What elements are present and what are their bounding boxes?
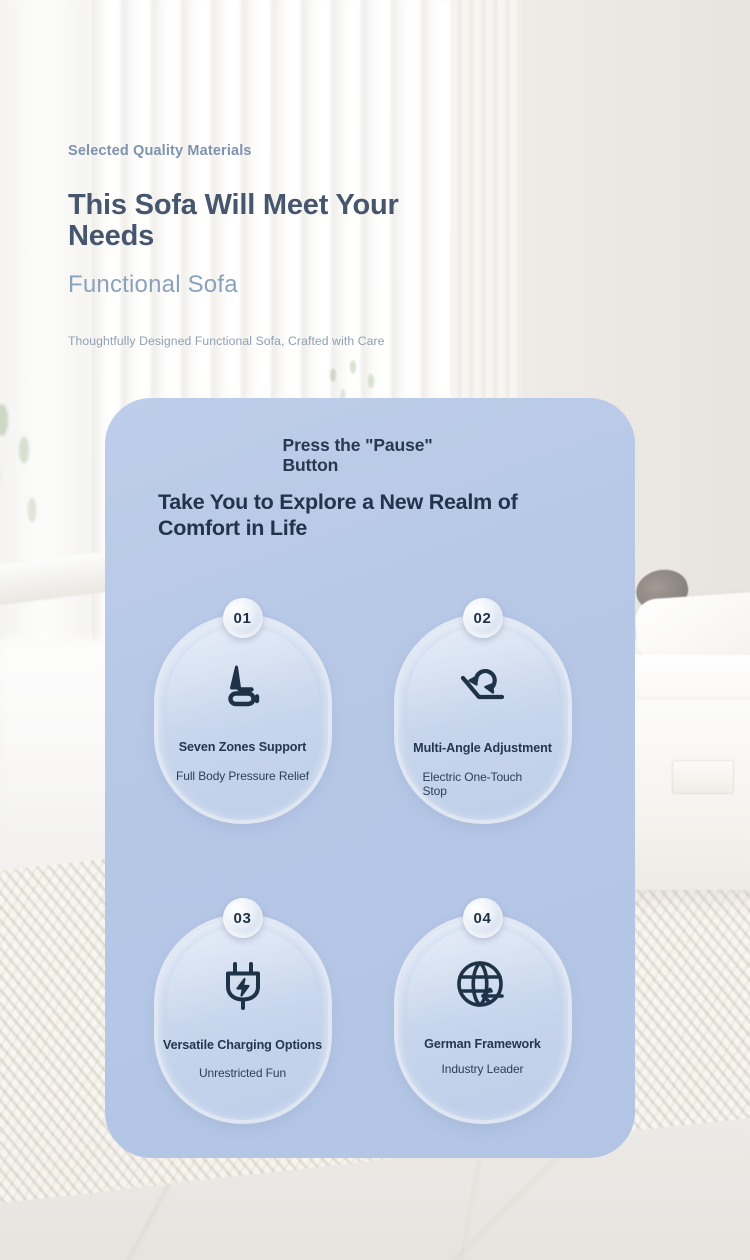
panel-kicker-wrap: Press the "Pause" Button [105,436,635,475]
card-number-badge: 04 [463,898,503,938]
card-description: Unrestricted Fun [199,1066,286,1080]
feature-card[interactable]: 03 Versatile Charging Options [150,898,335,1120]
hero-title: This Sofa Will Meet Your Needs [68,190,418,251]
card-number: 04 [474,911,492,926]
hero-description: Thoughtfully Designed Functional Sofa, C… [68,334,538,349]
product-feature-page: Selected Quality Materials This Sofa Wil… [0,0,750,1260]
panel-kicker: Press the "Pause" Button [283,436,458,475]
feature-panel: Press the "Pause" Button Take You to Exp… [105,398,635,1158]
card-content: Multi-Angle Adjustment Electric One-Touc… [390,618,575,820]
globe-import-icon [455,956,511,1012]
card-number-badge: 01 [223,598,263,638]
card-number: 01 [234,611,252,626]
card-number-badge: 02 [463,598,503,638]
panel-headline: Take You to Explore a New Realm of Comfo… [158,489,568,541]
card-number-badge: 03 [223,898,263,938]
card-description: Full Body Pressure Relief [176,769,309,783]
card-description: Electric One-Touch Stop [423,770,541,798]
angle-rotate-icon [455,656,511,712]
card-number: 03 [234,911,252,926]
card-content: German Framework Industry Leader [390,918,575,1120]
feature-card-grid: 01 Seven Zones Support Full Body Pressur… [150,598,590,1120]
card-title: Seven Zones Support [179,740,307,755]
card-content: Seven Zones Support Full Body Pressure R… [150,618,335,820]
car-seat-icon [215,656,271,712]
hero-text-block: Selected Quality Materials This Sofa Wil… [68,143,538,350]
card-title: Versatile Charging Options [163,1038,322,1053]
card-content: Versatile Charging Options Unrestricted … [150,918,335,1120]
feature-card[interactable]: 04 German [390,898,575,1120]
power-plug-bolt-icon [215,956,271,1012]
card-title: Multi-Angle Adjustment [413,741,552,756]
card-description: Industry Leader [442,1062,524,1076]
feature-card[interactable]: 02 Multi-Angle Adjustment Electric One-T… [390,598,575,820]
card-title: German Framework [424,1037,541,1052]
feature-card[interactable]: 01 Seven Zones Support Full Body Pressur… [150,598,335,820]
hero-eyebrow: Selected Quality Materials [68,143,538,160]
card-number: 02 [474,611,492,626]
panel-heading-block: Press the "Pause" Button Take You to Exp… [105,398,635,542]
hero-subtitle: Functional Sofa [68,272,538,298]
